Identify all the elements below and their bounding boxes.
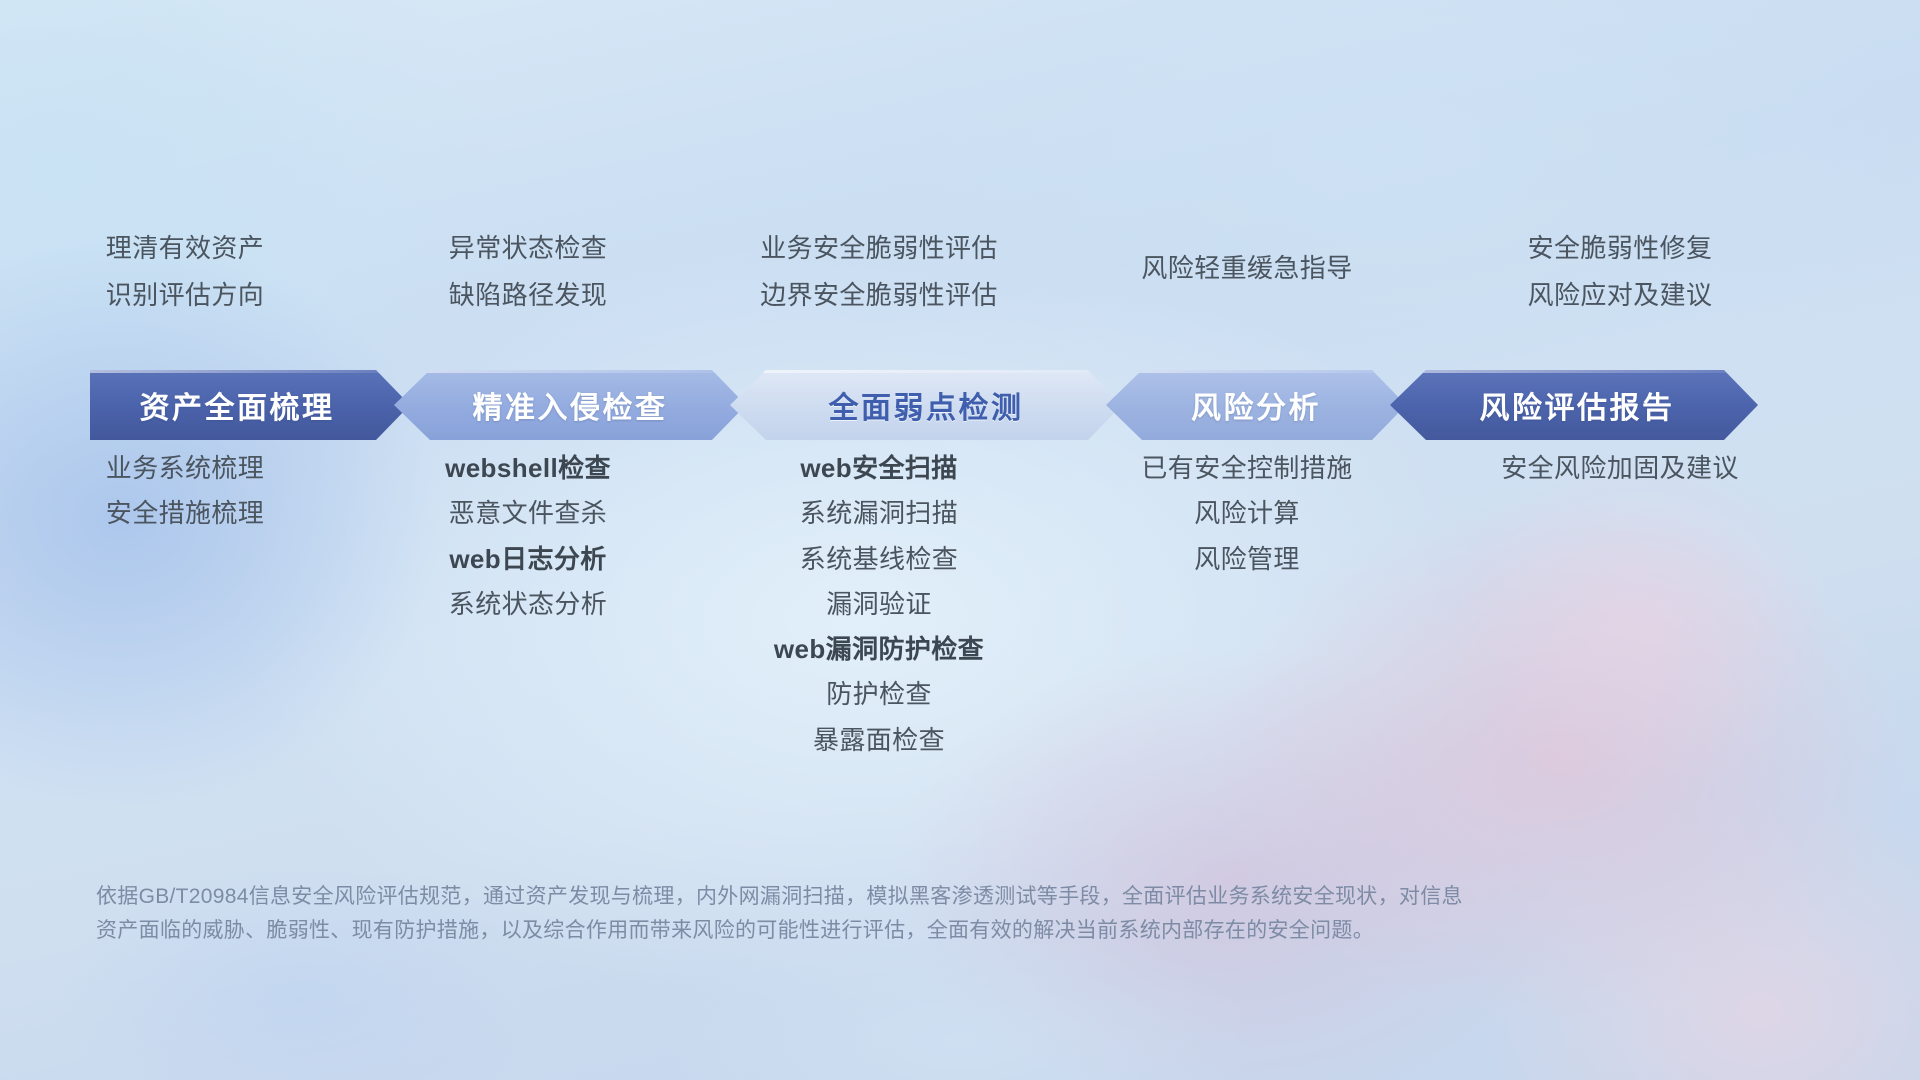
stage-title: 精准入侵检查	[473, 383, 668, 427]
top-captions-stage-4: 风险轻重缓急指导	[1070, 232, 1424, 285]
caption-text: 理清有效资产	[106, 232, 264, 265]
caption-text: 风险轻重缓急指导	[1141, 252, 1352, 285]
caption-text: 已有安全控制措施	[1141, 452, 1352, 485]
stage-title: 风险评估报告	[1480, 383, 1675, 427]
footer-description: 依据GB/T20984信息安全风险评估规范，通过资产发现与梳理，内外网漏洞扫描，…	[96, 880, 1646, 948]
top-captions-stage-5: 安全脆弱性修复 风险应对及建议	[1424, 232, 1816, 313]
caption-text: 风险应对及建议	[1528, 279, 1713, 312]
top-captions-stage-1: 理清有效资产 识别评估方向	[2, 232, 368, 313]
caption-text: 暴露面检查	[813, 724, 945, 757]
bottom-captions-stage-1: 业务系统梳理 安全措施梳理	[2, 452, 368, 531]
bottom-captions-stage-4: 已有安全控制措施 风险计算 风险管理	[1070, 452, 1424, 576]
bottom-captions-stage-2: webshell检查 恶意文件查杀 web日志分析 系统状态分析	[368, 452, 688, 621]
caption-text: 系统状态分析	[449, 588, 607, 621]
caption-text: 异常状态检查	[449, 232, 607, 265]
stage-title: 资产全面梳理	[140, 383, 335, 427]
caption-text: 漏洞验证	[826, 588, 932, 621]
caption-text: 恶意文件查杀	[449, 497, 607, 530]
top-caption-row: 理清有效资产 识别评估方向 异常状态检查 缺陷路径发现 业务安全脆弱性评估 边界…	[0, 232, 1920, 313]
bottom-caption-row: 业务系统梳理 安全措施梳理 webshell检查 恶意文件查杀 web日志分析 …	[0, 452, 1920, 757]
top-captions-stage-3: 业务安全脆弱性评估 边界安全脆弱性评估	[688, 232, 1070, 313]
top-captions-stage-2: 异常状态检查 缺陷路径发现	[368, 232, 688, 313]
caption-text: 安全风险加固及建议	[1501, 452, 1739, 485]
caption-text: 边界安全脆弱性评估	[760, 279, 998, 312]
footer-line-1: 依据GB/T20984信息安全风险评估规范，通过资产发现与梳理，内外网漏洞扫描，…	[96, 880, 1646, 914]
caption-text: 安全措施梳理	[106, 497, 264, 530]
stage-arrow-risk-report[interactable]: 风险评估报告	[1390, 370, 1758, 440]
caption-text: 风险管理	[1194, 543, 1300, 576]
caption-text: web日志分析	[449, 543, 606, 576]
stage-title: 全面弱点检测	[829, 383, 1024, 427]
stage-title: 风险分析	[1191, 383, 1321, 427]
stage-arrow-asset-inventory[interactable]: 资产全面梳理	[90, 370, 410, 440]
process-arrow-band: 资产全面梳理 精准入侵检查 全面弱点检测 风险分析 风险评估报告	[90, 370, 1830, 440]
caption-text: 系统漏洞扫描	[800, 497, 958, 530]
caption-text: 安全脆弱性修复	[1528, 232, 1713, 265]
caption-text: 缺陷路径发现	[449, 279, 607, 312]
stage-arrow-intrusion-check[interactable]: 精准入侵检查	[394, 370, 746, 440]
caption-text: web安全扫描	[800, 452, 957, 485]
caption-text: 防护检查	[826, 678, 932, 711]
caption-text: 业务系统梳理	[106, 452, 264, 485]
caption-text: 业务安全脆弱性评估	[760, 232, 998, 265]
bottom-captions-stage-5: 安全风险加固及建议	[1424, 452, 1816, 485]
infographic-canvas: 理清有效资产 识别评估方向 异常状态检查 缺陷路径发现 业务安全脆弱性评估 边界…	[0, 0, 1920, 1080]
stage-arrow-risk-analysis[interactable]: 风险分析	[1106, 370, 1406, 440]
caption-text: 识别评估方向	[106, 279, 264, 312]
caption-text: 风险计算	[1194, 497, 1300, 530]
bottom-captions-stage-3: web安全扫描 系统漏洞扫描 系统基线检查 漏洞验证 web漏洞防护检查 防护检…	[688, 452, 1070, 757]
caption-text: 系统基线检查	[800, 543, 958, 576]
caption-text: webshell检查	[445, 452, 611, 485]
footer-line-2: 资产面临的威胁、脆弱性、现有防护措施，以及综合作用而带来风险的可能性进行评估，全…	[96, 914, 1646, 948]
caption-text: web漏洞防护检查	[774, 633, 984, 666]
stage-arrow-weakness-detection[interactable]: 全面弱点检测	[730, 370, 1122, 440]
